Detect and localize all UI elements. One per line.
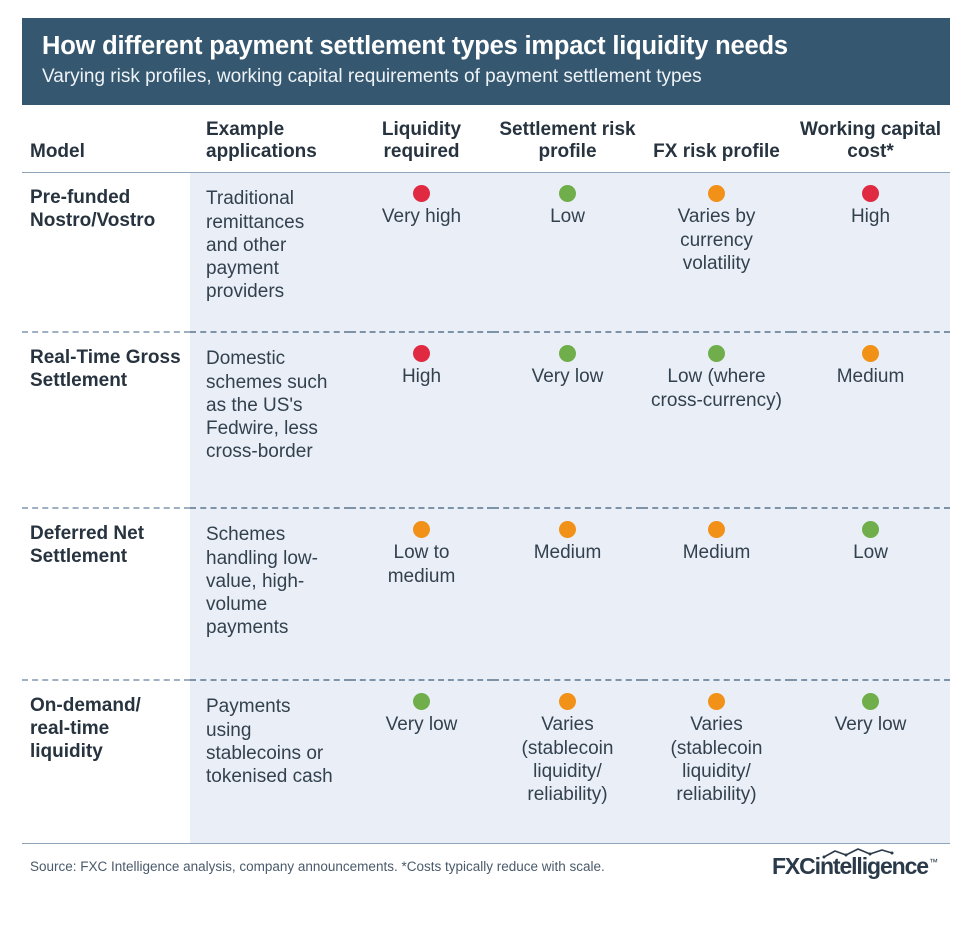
model-label: Real-Time Gross Settlement (22, 333, 190, 411)
cell-working-capital: Low (791, 508, 950, 680)
metric-label: High (851, 206, 890, 227)
status-dot-icon (862, 693, 879, 710)
table-row: Real-Time Gross Settlement Domestic sche… (22, 332, 950, 508)
cell-model: On-demand/ real-time liquidity (22, 680, 190, 844)
status-dot-icon (559, 521, 576, 538)
settlement-types-table: Model Example applications Liquidity req… (22, 105, 950, 844)
page-subtitle: Varying risk profiles, working capital r… (42, 66, 930, 89)
cell-example: Traditional remittances and other paymen… (190, 173, 350, 333)
status-dot-icon (862, 345, 879, 362)
header-band: How different payment settlement types i… (22, 18, 950, 105)
metric-label: Low (550, 206, 585, 227)
table-row: Deferred Net Settlement Schemes handling… (22, 508, 950, 680)
cell-settlement: Medium (493, 508, 642, 680)
status-dot-icon (413, 185, 430, 202)
source-note: Source: FXC Intelligence analysis, compa… (30, 859, 605, 875)
status-dot-icon (413, 345, 430, 362)
column-header-example: Example applications (190, 105, 350, 173)
status-dot-icon (559, 345, 576, 362)
cell-fx: Medium (642, 508, 791, 680)
cell-example: Domestic schemes such as the US's Fedwir… (190, 332, 350, 508)
cell-working-capital: Medium (791, 332, 950, 508)
column-header-settlement: Settlement risk profile (493, 105, 642, 173)
cell-settlement: Very low (493, 332, 642, 508)
status-dot-icon (559, 693, 576, 710)
status-dot-icon (708, 693, 725, 710)
metric-label: Low to medium (388, 542, 456, 586)
metric-label: Medium (683, 542, 751, 563)
column-header-model: Model (22, 105, 190, 173)
status-dot-icon (862, 185, 879, 202)
model-label: On-demand/ real-time liquidity (22, 681, 190, 781)
cell-liquidity: Low to medium (350, 508, 493, 680)
status-dot-icon (413, 521, 430, 538)
cell-settlement: Low (493, 173, 642, 333)
metric-label: Low (where cross-currency) (651, 366, 782, 410)
column-header-liquidity: Liquidity required (350, 105, 493, 173)
metric-label: Varies by currency volatility (678, 206, 756, 273)
example-text: Traditional remittances and other paymen… (190, 173, 350, 321)
infographic-page: How different payment settlement types i… (0, 0, 972, 944)
table-row: Pre-funded Nostro/Vostro Traditional rem… (22, 173, 950, 333)
status-dot-icon (708, 345, 725, 362)
cell-model: Deferred Net Settlement (22, 508, 190, 680)
column-header-working-capital: Working capital cost* (791, 105, 950, 173)
cell-model: Real-Time Gross Settlement (22, 332, 190, 508)
model-label: Deferred Net Settlement (22, 509, 190, 587)
metric-label: Varies (stablecoin liquidity/ reliabilit… (671, 714, 763, 805)
cell-liquidity: High (350, 332, 493, 508)
cell-liquidity: Very low (350, 680, 493, 844)
cell-liquidity: Very high (350, 173, 493, 333)
sparkline-icon (822, 848, 894, 860)
metric-label: Medium (534, 542, 602, 563)
status-dot-icon (708, 521, 725, 538)
metric-label: Low (853, 542, 888, 563)
status-dot-icon (862, 521, 879, 538)
column-header-fx: FX risk profile (642, 105, 791, 173)
metric-label: Very low (835, 714, 907, 735)
metric-label: Varies (stablecoin liquidity/ reliabilit… (522, 714, 614, 805)
cell-working-capital: High (791, 173, 950, 333)
table-header-row: Model Example applications Liquidity req… (22, 105, 950, 173)
status-dot-icon (708, 185, 725, 202)
cell-example: Schemes handling low-value, high-volume … (190, 508, 350, 680)
metric-label: Very low (386, 714, 458, 735)
logo-trademark: ™ (929, 857, 938, 867)
example-text: Domestic schemes such as the US's Fedwir… (190, 333, 350, 481)
table-row: On-demand/ real-time liquidity Payments … (22, 680, 950, 844)
table-body: Pre-funded Nostro/Vostro Traditional rem… (22, 173, 950, 844)
status-dot-icon (413, 693, 430, 710)
footer: Source: FXC Intelligence analysis, compa… (22, 844, 950, 878)
metric-label: High (402, 366, 441, 387)
fxc-intelligence-logo: FXCintelligence ™ (772, 855, 944, 878)
metric-label: Medium (837, 366, 905, 387)
example-text: Payments using stablecoins or tokenised … (190, 681, 350, 806)
cell-fx: Varies (stablecoin liquidity/ reliabilit… (642, 680, 791, 844)
status-dot-icon (559, 185, 576, 202)
cell-settlement: Varies (stablecoin liquidity/ reliabilit… (493, 680, 642, 844)
cell-example: Payments using stablecoins or tokenised … (190, 680, 350, 844)
example-text: Schemes handling low-value, high-volume … (190, 509, 350, 657)
table-head: Model Example applications Liquidity req… (22, 105, 950, 173)
page-title: How different payment settlement types i… (42, 32, 930, 61)
cell-fx: Low (where cross-currency) (642, 332, 791, 508)
cell-model: Pre-funded Nostro/Vostro (22, 173, 190, 333)
metric-label: Very low (532, 366, 604, 387)
cell-working-capital: Very low (791, 680, 950, 844)
cell-fx: Varies by currency volatility (642, 173, 791, 333)
model-label: Pre-funded Nostro/Vostro (22, 173, 190, 251)
metric-label: Very high (382, 206, 461, 227)
